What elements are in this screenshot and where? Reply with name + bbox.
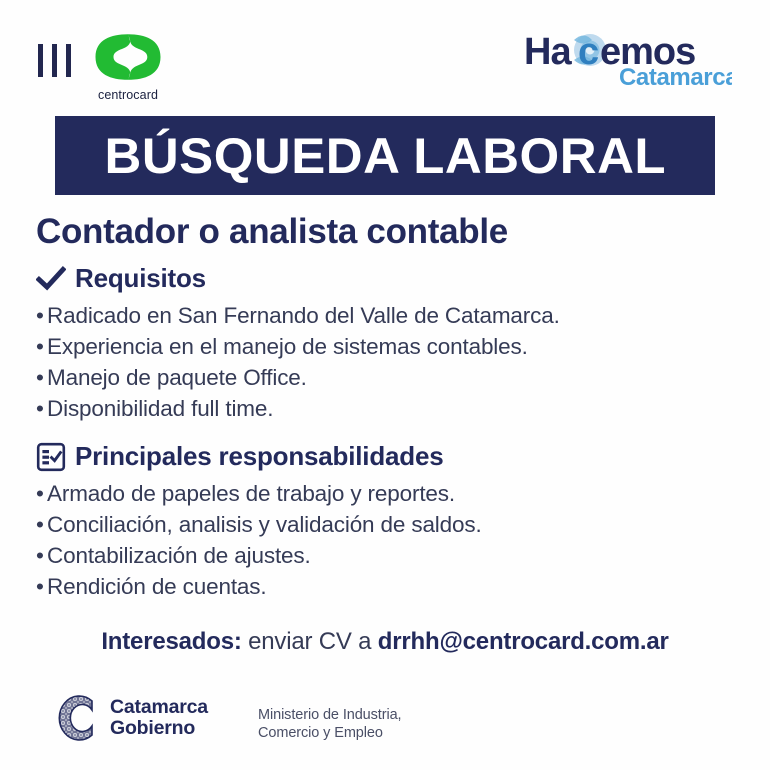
bullet-dot: • [36,571,47,602]
job-title: Contador o analista contable [36,212,508,252]
job-posting-poster: centrocard Ha c emos Catamarca BÚSQUEDA … [0,0,770,770]
list-item-text: Radicado en San Fernando del Valle de Ca… [47,303,560,328]
bullet-dot: • [36,393,47,424]
list-item: •Disponibilidad full time. [36,393,736,424]
centrocard-logo: centrocard [86,32,170,102]
requisitos-list: •Radicado en San Fernando del Valle de C… [36,300,736,424]
list-item-text: Conciliación, analisis y validación de s… [47,512,482,537]
list-item: •Experiencia en el manejo de sistemas co… [36,331,736,362]
catamarca-gobierno-wordmark: Catamarca Gobierno [110,697,208,739]
svg-text:c: c [578,31,599,73]
catamarca-gobierno-logo: Catamarca Gobierno [48,690,208,746]
list-item-text: Contabilización de ajustes. [47,543,311,568]
section-header: Principales responsabilidades [36,441,736,472]
list-item: •Contabilización de ajustes. [36,540,736,571]
list-item: •Radicado en San Fernando del Valle de C… [36,300,736,331]
bullet-dot: • [36,362,47,393]
contact-line: Interesados: enviar CV a drrhh@centrocar… [0,628,770,656]
catamarca-gobierno-c-logo-icon [48,690,100,746]
hacemos-catamarca-logo-icon: Ha c emos Catamarca [522,26,732,88]
bullet-dot: • [36,540,47,571]
list-item-text: Disponibilidad full time. [47,396,273,421]
bullet-dot: • [36,509,47,540]
section-responsabilidades: Principales responsabilidades •Armado de… [36,441,736,602]
list-item-text: Armado de papeles de trabajo y reportes. [47,481,455,506]
banner: BÚSQUEDA LABORAL [55,116,715,195]
contact-email[interactable]: drrhh@centrocard.com.ar [378,628,669,655]
banner-title: BÚSQUEDA LABORAL [104,127,666,185]
list-item-text: Rendición de cuentas. [47,574,267,599]
svg-text:Catamarca: Catamarca [619,64,732,88]
svg-text:Ha: Ha [524,31,572,73]
bullet-dot: • [36,478,47,509]
checkmark-icon [36,264,66,294]
bullet-dot: • [36,300,47,331]
list-item: •Armado de papeles de trabajo y reportes… [36,478,736,509]
gov-line-2: Gobierno [110,718,208,739]
bullet-dot: • [36,331,47,362]
contact-label: Interesados: [101,628,241,655]
list-item-text: Experiencia en el manejo de sistemas con… [47,334,528,359]
section-title: Requisitos [75,263,206,294]
list-item: •Manejo de paquete Office. [36,362,736,393]
contact-middle-text: enviar CV a [242,628,378,655]
ministry-text: Ministerio de Industria, Comercio y Empl… [258,706,401,742]
list-item: •Rendición de cuentas. [36,571,736,602]
responsabilidades-list: •Armado de papeles de trabajo y reportes… [36,478,736,602]
footer: Catamarca Gobierno Ministerio de Industr… [0,688,770,770]
checklist-icon [36,442,66,472]
header-row: centrocard Ha c emos Catamarca [0,0,770,110]
three-vertical-bars-icon [38,44,71,77]
section-title: Principales responsabilidades [75,441,443,472]
section-requisitos: Requisitos •Radicado en San Fernando del… [36,263,736,424]
section-header: Requisitos [36,263,736,294]
list-item: •Conciliación, analisis y validación de … [36,509,736,540]
centrocard-logo-icon [91,32,165,82]
ministry-line-2: Comercio y Empleo [258,724,401,742]
centrocard-wordmark: centrocard [86,88,170,102]
gov-line-1: Catamarca [110,697,208,718]
list-item-text: Manejo de paquete Office. [47,365,307,390]
ministry-line-1: Ministerio de Industria, [258,706,401,724]
